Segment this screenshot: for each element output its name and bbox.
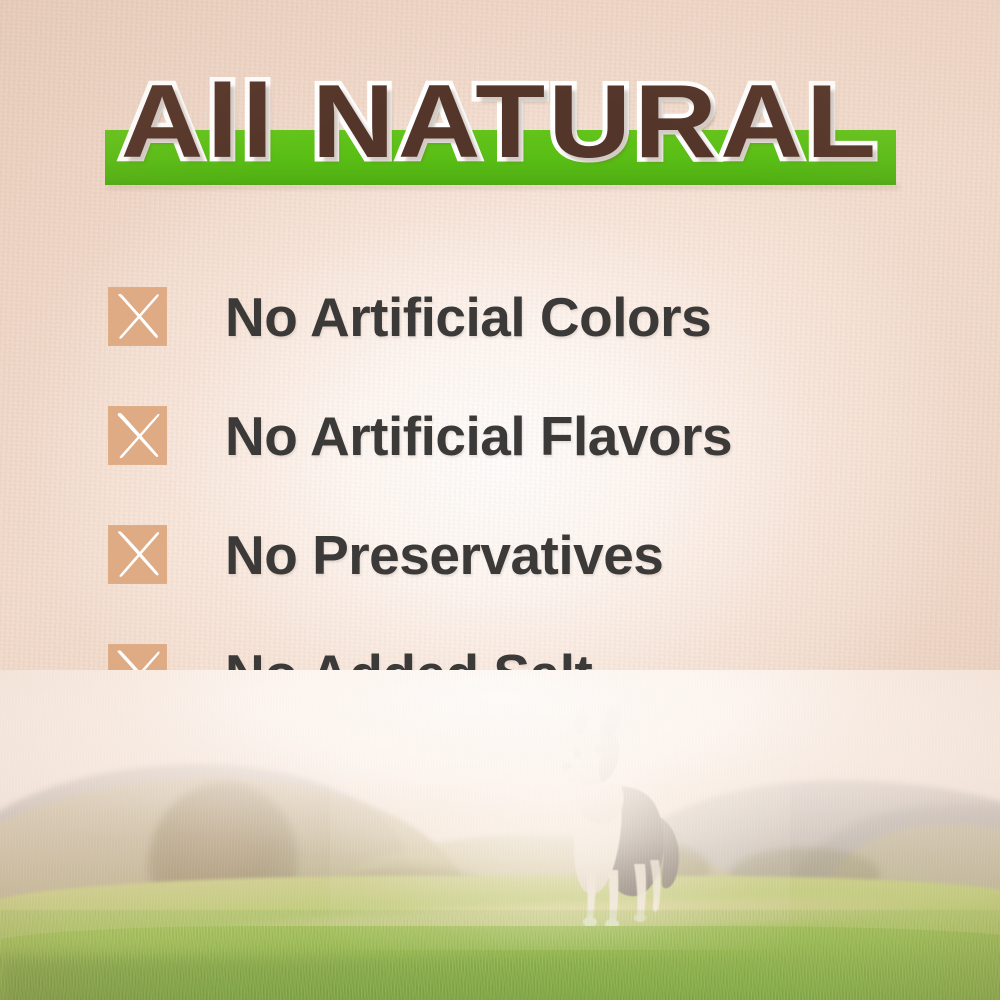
border-collie-icon bbox=[530, 688, 700, 948]
list-item: No Artificial Colors bbox=[108, 257, 948, 376]
list-item-label: No Artificial Flavors bbox=[225, 407, 732, 465]
grass-blade-texture bbox=[0, 910, 1000, 1000]
list-item: No Preservatives bbox=[108, 495, 948, 614]
checkbox-no-preservatives bbox=[108, 525, 167, 584]
list-item-label: No Artificial Colors bbox=[225, 288, 711, 346]
x-mark-icon bbox=[108, 525, 167, 584]
dog-photo-subject bbox=[530, 688, 700, 948]
x-mark-icon bbox=[108, 287, 167, 346]
green-banner-shadow bbox=[108, 185, 899, 189]
claims-checklist: No Artificial Colors No Artificial Flavo… bbox=[108, 257, 948, 733]
list-item-label: No Preservatives bbox=[225, 526, 663, 584]
list-item: No Artificial Flavors bbox=[108, 376, 948, 495]
checkbox-no-artificial-flavors bbox=[108, 406, 167, 465]
product-claims-poster: All NATURAL No Artificial Colors No Arti… bbox=[0, 0, 1000, 1000]
x-mark-icon bbox=[108, 406, 167, 465]
headline-banner-group: All NATURAL bbox=[0, 66, 1000, 206]
lifestyle-photo bbox=[0, 670, 1000, 1000]
checkbox-no-artificial-colors bbox=[108, 287, 167, 346]
page-title: All NATURAL bbox=[0, 66, 1000, 178]
